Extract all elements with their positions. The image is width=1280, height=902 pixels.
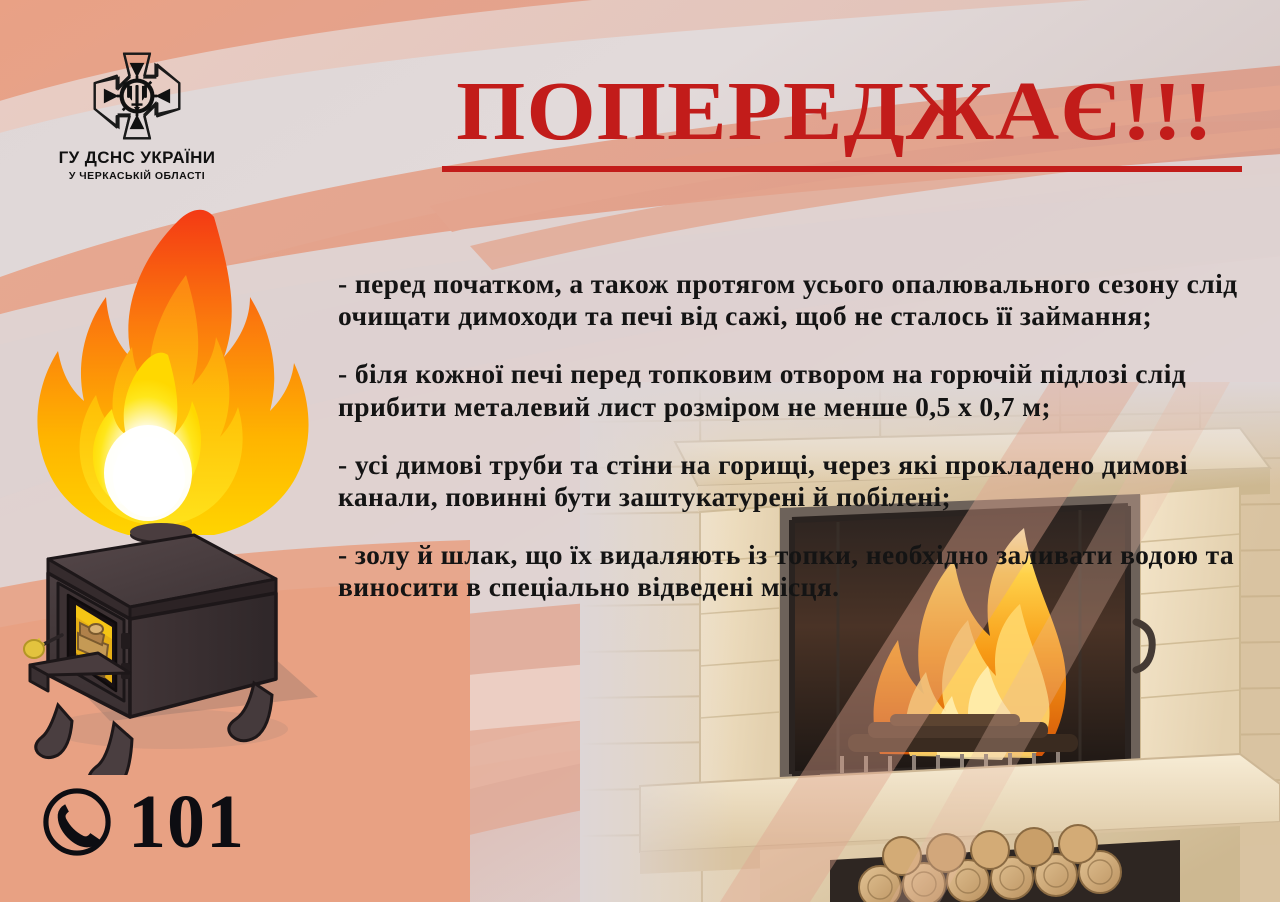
emergency-contact: 101 bbox=[40, 784, 245, 860]
phone-in-circle-icon bbox=[40, 785, 114, 859]
emergency-number: 101 bbox=[128, 784, 245, 860]
logo-organization-name: ГУ ДСНС УКРАЇНИ bbox=[42, 148, 232, 168]
fire-safety-poster: ГУ ДСНС УКРАЇНИ У ЧЕРКАСЬКІЙ ОБЛАСТІ ПОП… bbox=[0, 0, 1280, 902]
bullet-item: - усі димові труби та стіни на горищі, ч… bbox=[338, 449, 1248, 513]
logo-region-name: У ЧЕРКАСЬКІЙ ОБЛАСТІ bbox=[42, 170, 232, 182]
page-title: ПОПЕРЕДЖАЄ!!! bbox=[395, 72, 1275, 152]
dsns-logo-block: ГУ ДСНС УКРАЇНИ У ЧЕРКАСЬКІЙ ОБЛАСТІ bbox=[42, 50, 232, 182]
bullet-item: - золу й шлак, що їх видаляють із топки,… bbox=[338, 539, 1248, 603]
title-underline-rule bbox=[442, 166, 1242, 172]
safety-instructions-list: - перед початком, а також протягом усьог… bbox=[338, 268, 1248, 603]
bullet-item: - перед початком, а також протягом усьог… bbox=[338, 268, 1248, 332]
bullet-item: - біля кожної печі перед топковим отворо… bbox=[338, 358, 1248, 422]
dsns-maltese-cross-icon bbox=[91, 50, 183, 142]
title-block: ПОПЕРЕДЖАЄ!!! bbox=[420, 72, 1250, 172]
wood-stove-illustration bbox=[18, 205, 338, 775]
